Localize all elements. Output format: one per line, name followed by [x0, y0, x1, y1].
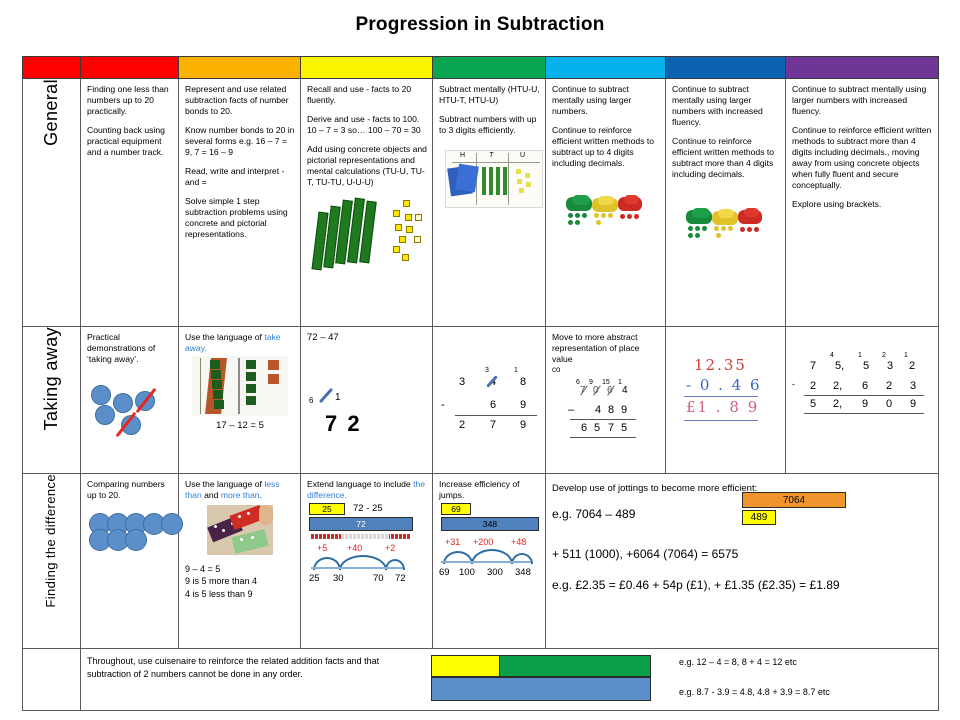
paragraph: Finding one less than numbers up to 20 p… — [87, 84, 173, 117]
paragraph: Increase efficiency of jumps. — [439, 479, 540, 501]
text-segment: more than — [221, 490, 260, 500]
cell-difference-1: Comparing numbers up to 20. — [81, 474, 179, 649]
exchange-digit: 3 — [485, 367, 489, 376]
row-label-taking-away: Taking away — [23, 327, 81, 474]
digit: 7 — [810, 359, 816, 373]
digit: 3 — [459, 375, 465, 389]
header-swatch-1 — [81, 57, 179, 79]
digit: 8 — [520, 375, 526, 389]
bar-label-big: 72 — [309, 517, 413, 531]
counter-piles-icon — [686, 208, 780, 248]
progression-table: General Finding one less than numbers up… — [22, 56, 939, 711]
slide-root: Progression in Subtraction General Findi… — [0, 0, 960, 720]
digit: 7 — [490, 418, 496, 432]
heading: 72 – 47 — [307, 332, 427, 344]
tick-label: 30 — [333, 573, 344, 585]
carried-digit: 1 — [335, 392, 341, 405]
cell-general-6: Continue to subtract mentally using larg… — [666, 79, 786, 327]
dienes-blocks-icon — [307, 196, 427, 270]
caption-line: 9 – 4 = 5 — [185, 563, 295, 575]
exchange-illustration: 6 1 7 2 — [307, 344, 427, 449]
cell-difference-4: Increase efficiency of jumps. 69 348 +31… — [433, 474, 546, 649]
paragraph: Read, write and interpret - and = — [185, 166, 295, 188]
dominoes-icon — [207, 505, 273, 555]
operator: - — [792, 379, 795, 391]
digit: 5 — [621, 421, 627, 435]
digit: 5 — [863, 359, 869, 373]
bar-model-diagram: 69 348 +31 +200 +48 69 100 300 348 — [439, 503, 540, 613]
paragraph: Solve simple 1 step subtraction problems… — [185, 196, 295, 240]
bar-label-small: 25 — [309, 503, 345, 515]
header-swatch-6 — [666, 57, 786, 79]
header-swatch-label — [23, 57, 81, 79]
row-general: General Finding one less than numbers up… — [23, 79, 939, 327]
digit: 5 — [594, 421, 600, 435]
digit: 2 — [810, 379, 816, 393]
paragraph: Represent and use related subtraction fa… — [185, 84, 295, 117]
paragraph-rich: Extend language to include the differenc… — [307, 479, 427, 501]
cell-general-4: Subtract mentally (HTU-U, HTU-T, HTU-U) … — [433, 79, 546, 327]
cell-difference-5-merged: Develop use of jottings to become more e… — [546, 474, 939, 649]
paragraph: Subtract numbers with up to 3 digits eff… — [439, 114, 540, 136]
big-number: 7 2 — [325, 410, 362, 438]
paragraph: Practical demonstrations of ‘taking away… — [87, 332, 173, 365]
jotting-bar-orange: 7064 — [742, 492, 846, 508]
header-swatch-2 — [179, 57, 301, 79]
exchange-digit: 2 — [882, 352, 886, 361]
caption: 17 – 12 = 5 — [185, 420, 295, 432]
jump-label: +48 — [511, 537, 526, 549]
footer-text: Throughout, use cuisenaire to reinforce … — [87, 655, 387, 681]
jump-label: +200 — [473, 537, 493, 549]
row-taking-away: Taking away Practical demonstrations of … — [23, 327, 939, 474]
paragraph: Continue to reinforce efficient written … — [792, 125, 933, 191]
text-segment: Use the language of — [185, 479, 264, 489]
bar-label-small: 69 — [441, 503, 471, 515]
cuisenaire-bar-yellow — [431, 655, 501, 677]
cell-general-2: Represent and use related subtraction fa… — [179, 79, 301, 327]
header-swatch-7 — [786, 57, 939, 79]
text-segment: and — [202, 490, 221, 500]
counter-array-icon — [87, 509, 173, 555]
header-swatch-5 — [546, 57, 666, 79]
paragraph: Continue to subtract mentally using larg… — [792, 84, 933, 117]
digit: 3 — [887, 359, 893, 373]
cell-general-1: Finding one less than numbers up to 20 p… — [81, 79, 179, 327]
cell-general-5: Continue to subtract mentally using larg… — [546, 79, 666, 327]
jump-label: +2 — [385, 543, 395, 555]
header-swatch-4 — [433, 57, 546, 79]
digit: 4 — [595, 403, 601, 417]
digit: 7 — [608, 421, 614, 435]
cuisenaire-bar-blue — [431, 677, 651, 701]
cell-takingaway-5: Move to more abstract representation of … — [546, 327, 666, 474]
bead-strip-icon — [341, 534, 389, 539]
row-label-finding-difference-text: Finding the difference — [43, 474, 60, 608]
row-label-general: General — [23, 79, 81, 327]
digit: 9 — [910, 397, 916, 411]
caption-line: 9 is 5 more than 4 — [185, 575, 295, 587]
operator: – — [568, 403, 574, 417]
cell-takingaway-6: 12.35 - 0 . 4 6 £1 . 8 9 — [666, 327, 786, 474]
crossed-digit: 6 — [309, 396, 313, 406]
operator: - — [441, 398, 445, 412]
trailing-text: co — [552, 365, 660, 375]
cell-takingaway-1: Practical demonstrations of ‘taking away… — [81, 327, 179, 474]
hand-line-3: £1 . 8 9 — [686, 398, 759, 417]
page-title: Progression in Subtraction — [0, 14, 960, 36]
tick-label: 25 — [309, 573, 320, 585]
paragraph: Know number bonds to 20 in several forms… — [185, 125, 295, 158]
cell-takingaway-2: Use the language of take away. — [179, 327, 301, 474]
pv-label-t: T — [489, 152, 493, 161]
paragraph: Continue to reinforce efficient written … — [552, 125, 660, 169]
jotting-bar-yellow: 489 — [742, 510, 776, 525]
jump-label: +40 — [347, 543, 362, 555]
jump-label: +5 — [317, 543, 327, 555]
digit: 2 — [886, 379, 892, 393]
digit: 3 — [910, 379, 916, 393]
paragraph: Continue to subtract mentally using larg… — [672, 84, 780, 128]
tick-label: 100 — [459, 567, 475, 579]
digit: 5 — [810, 397, 816, 411]
pv-label-h: H — [460, 152, 465, 161]
cell-difference-2: Use the language of less than and more t… — [179, 474, 301, 649]
tick-label: 72 — [395, 573, 406, 585]
text-segment: Use the language of — [185, 332, 264, 342]
digit: 9 — [862, 397, 868, 411]
paragraph: Recall and use - facts to 20 fluently. — [307, 84, 427, 106]
row-label-taking-away-text: Taking away — [40, 327, 63, 430]
digit: 0 — [886, 397, 892, 411]
column-subtraction: 3 3 4 1 8 - 6 9 2 7 9 — [457, 359, 541, 439]
bar-label-big: 348 — [441, 517, 539, 531]
hand-line-2: - 0 . 4 6 — [686, 376, 762, 395]
digit: 6 — [581, 421, 587, 435]
exchange-digit: 1 — [904, 352, 908, 361]
column-subtraction: 6 9 15 1 7 0 6 4 – 4 8 9 6 — [576, 379, 656, 441]
digit: 9 — [520, 398, 526, 412]
paragraph: Add using concrete objects and pictorial… — [307, 144, 427, 188]
exchange-digit: 1 — [858, 352, 862, 361]
row-footer: Throughout, use cuisenaire to reinforce … — [23, 649, 939, 711]
bar-model-diagram: 25 72 - 25 72 +5 +40 +2 25 30 70 72 — [307, 503, 427, 615]
hand-line-1: 12.35 — [694, 356, 747, 375]
footer-label-spacer — [23, 649, 81, 711]
crossed-counters-icon — [87, 373, 173, 449]
bead-string-icon — [192, 356, 288, 416]
digit: 2 — [909, 359, 915, 373]
footer-example: e.g. 8.7 - 3.9 = 4.8, 4.8 + 3.9 = 8.7 et… — [679, 687, 830, 699]
digit: 2 — [459, 418, 465, 432]
paragraph: Explore using brackets. — [792, 199, 933, 210]
tick-label: 300 — [487, 567, 503, 579]
tick-label: 69 — [439, 567, 450, 579]
tick-label: 70 — [373, 573, 384, 585]
paragraph: Subtract mentally (HTU-U, HTU-T, HTU-U) — [439, 84, 540, 106]
cell-difference-3: Extend language to include the differenc… — [301, 474, 433, 649]
text-segment: Extend language to include — [307, 479, 413, 489]
text-segment: . — [260, 490, 262, 500]
digit: 4 — [622, 385, 628, 398]
exchange-digit: 1 — [514, 367, 518, 376]
color-header-row — [23, 57, 939, 79]
paragraph: Move to more abstract representation of … — [552, 332, 660, 365]
digit: 5, — [835, 359, 844, 373]
place-value-chart-icon: H T U — [445, 150, 543, 208]
paragraph-rich: Use the language of take away. — [185, 332, 295, 354]
counter-piles-icon — [566, 195, 660, 235]
cuisenaire-bar-green — [499, 655, 651, 677]
example-line: + 511 (1000), +6064 (7064) = 6575 — [552, 547, 933, 562]
digit: 9 — [520, 418, 526, 432]
paragraph: Continue to reinforce efficient written … — [672, 136, 780, 180]
tick-label: 348 — [515, 567, 531, 579]
cell-takingaway-7: 7 4 5, 1 5 2 3 1 2 - 2 2, 6 2 3 5 — [786, 327, 939, 474]
caption-line: 4 is 5 less than 9 — [185, 588, 295, 600]
row-label-finding-difference: Finding the difference — [23, 474, 81, 649]
paragraph-rich: Use the language of less than and more t… — [185, 479, 295, 501]
digit: 2, — [833, 397, 842, 411]
header-swatch-3 — [301, 57, 433, 79]
digit: 9 — [621, 403, 627, 417]
cell-general-7: Continue to subtract mentally using larg… — [786, 79, 939, 327]
handwritten-decimal-subtraction: 12.35 - 0 . 4 6 £1 . 8 9 — [672, 332, 780, 452]
cell-footer: Throughout, use cuisenaire to reinforce … — [81, 649, 939, 711]
column-subtraction: 7 4 5, 1 5 2 3 1 2 - 2 2, 6 2 3 5 — [800, 347, 924, 417]
paragraph: Derive and use - facts to 100. 10 – 7 = … — [307, 114, 427, 136]
digit: 8 — [608, 403, 614, 417]
row-label-general-text: General — [40, 79, 63, 146]
paragraph: Continue to subtract mentally using larg… — [552, 84, 660, 117]
row-finding-difference: Finding the difference Comparing numbers… — [23, 474, 939, 649]
paragraph: Comparing numbers up to 20. — [87, 479, 173, 501]
cell-takingaway-4: 3 3 4 1 8 - 6 9 2 7 9 — [433, 327, 546, 474]
example-line: e.g. £2.35 = £0.46 + 54p (£1), + £1.35 (… — [552, 578, 933, 593]
bar-caption: 72 - 25 — [353, 503, 383, 515]
cell-general-3: Recall and use - facts to 20 fluently. D… — [301, 79, 433, 327]
cell-takingaway-3: 72 – 47 6 1 7 2 — [301, 327, 433, 474]
footer-example: e.g. 12 – 4 = 8, 8 + 4 = 12 etc — [679, 657, 797, 669]
digit: 2, — [833, 379, 842, 393]
digit: 6 — [490, 398, 496, 412]
digit: 6 — [862, 379, 868, 393]
exchange-digit: 4 — [830, 352, 834, 361]
jump-label: +31 — [445, 537, 460, 549]
paragraph: Counting back using practical equipment … — [87, 125, 173, 158]
pv-label-u: U — [520, 152, 525, 161]
